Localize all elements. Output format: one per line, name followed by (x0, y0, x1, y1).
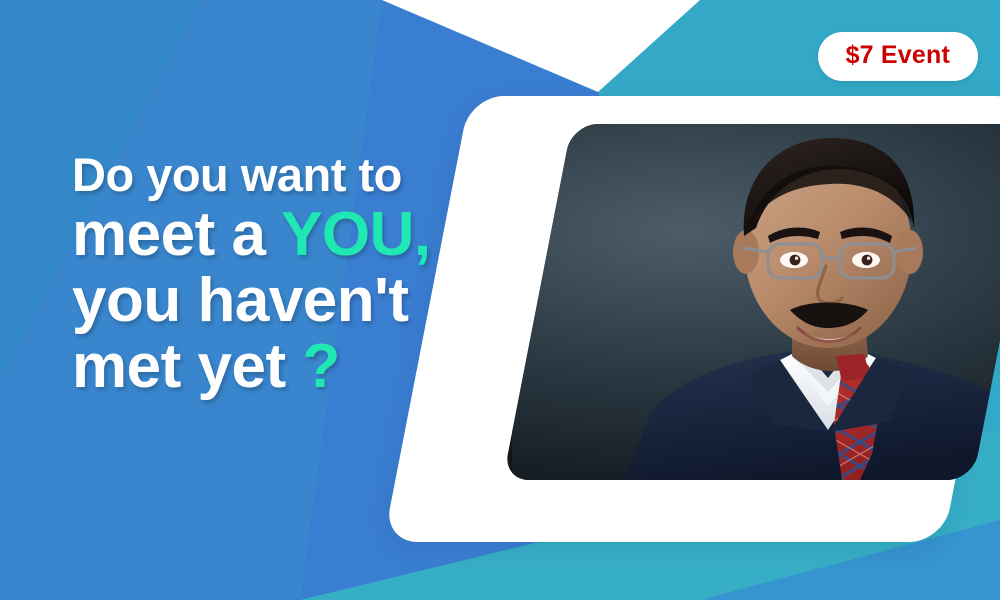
headline-line-2-prefix: meet a (72, 200, 281, 269)
portrait-image (512, 124, 1000, 480)
price-badge-label: $7 Event (846, 41, 950, 70)
headline-accent-you: YOU, (281, 200, 431, 269)
headline-line-4-prefix: met yet (72, 332, 302, 401)
headline-accent-question-mark: ? (302, 332, 339, 401)
price-badge[interactable]: $7 Event (818, 32, 978, 81)
headline-line-2: meet a YOU, (72, 202, 542, 268)
promo-banner: Do you want to meet a YOU, you haven't m… (0, 0, 1000, 600)
ear-left (733, 230, 759, 274)
headline-line-1: Do you want to (72, 148, 542, 202)
headline: Do you want to meet a YOU, you haven't m… (72, 148, 542, 400)
portrait-illustration (512, 124, 1000, 480)
headline-line-3: you haven't (72, 268, 542, 334)
photo-content (512, 124, 1000, 480)
speaker-photo (503, 124, 1000, 480)
headline-line-4: met yet ? (72, 334, 542, 400)
